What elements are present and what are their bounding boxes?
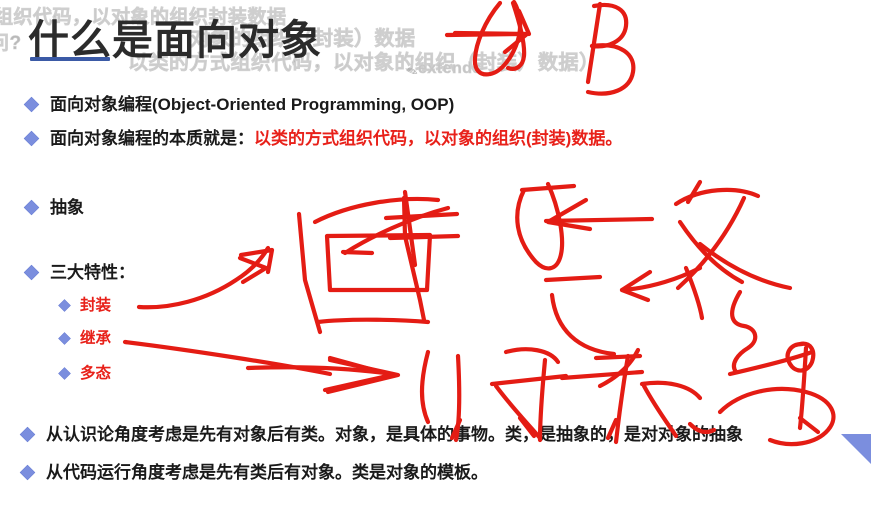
diamond-bullet-icon <box>58 332 71 345</box>
sub-bullet-label: 多态 <box>80 366 111 382</box>
ink-glyph-3-left <box>680 222 742 282</box>
bullet-item-4: 三大特性： <box>26 264 135 281</box>
ghost-text-line2: 问? <box>0 28 22 55</box>
ink-glyph-8-loop <box>788 344 814 371</box>
ink-glyph-2-hook <box>517 184 562 268</box>
sub-bullet-item-inheritance: 继承 <box>60 331 111 347</box>
diamond-bullet-icon <box>20 465 36 481</box>
pencil-icon: ✎ <box>405 63 421 82</box>
ink-glyph-2-dash <box>546 277 600 280</box>
ink-glyph-8-sweep <box>730 352 812 374</box>
ink-arrow-to-fengzhuang <box>139 248 268 307</box>
corner-triangle-decoration <box>841 434 871 464</box>
ink-glyph-1-inner-box <box>327 235 430 290</box>
ink-glyph-2-arrow <box>546 219 652 221</box>
ink-glyph-1-left <box>299 214 320 332</box>
diamond-bullet-icon <box>24 265 40 281</box>
ink-glyph-1-bottom <box>318 320 428 322</box>
ink-arrow-left-small <box>240 258 266 282</box>
ink-glyph-7-hline2 <box>562 372 642 378</box>
ink-glyph-1-stroke <box>345 208 448 253</box>
sub-bullet-label: 封装 <box>80 298 111 314</box>
bullet-label: 三大特性： <box>50 264 135 281</box>
ink-glyph-6-cross <box>492 376 566 384</box>
ink-letter-b-top <box>592 5 626 46</box>
bullet-label: 从认识论角度考虑是先有对象后有类。对象，是具体的事物。类，是抽象的，是对对象的抽… <box>46 426 743 443</box>
ink-arrow-to-jicheng <box>125 342 330 374</box>
bullet-item-runtime: 从代码运行角度考虑是先有类后有对象。类是对象的模板。 <box>22 464 488 481</box>
ink-glyph-7-left <box>600 350 638 386</box>
ink-glyph-1-right <box>404 198 424 320</box>
ink-glyph-6-top <box>506 349 558 362</box>
ink-glyph-2-curve <box>552 295 614 354</box>
ink-glyph-1-cross2 <box>390 236 458 238</box>
bullet-label: 从代码运行角度考虑是先有类后有对象。类是对象的模板。 <box>46 464 488 481</box>
ink-glyph-8-stem <box>800 348 806 428</box>
ink-glyph-3-sweep <box>700 244 790 288</box>
ink-glyph-7-box <box>642 383 700 398</box>
bullet-item-1: 面向对象编程(Object-Oriented Programming, OOP) <box>26 96 454 113</box>
bullet-item-2: 面向对象编程的本质就是： 以类的方式组织代码，以对象的组织(封装)数据。 <box>26 130 622 147</box>
ink-letter-b-bottom <box>588 45 633 93</box>
diamond-bullet-icon <box>24 131 40 147</box>
bullet-label-highlight: 以类的方式组织代码，以对象的组织(封装)数据。 <box>254 130 622 147</box>
ink-circle-fengzhuang <box>475 2 520 74</box>
bullet-label: 抽象 <box>50 199 84 216</box>
ghost-text-extends: extends <box>418 60 482 78</box>
ink-glyph-1-tick <box>343 252 372 253</box>
ink-glyph-2-top <box>522 186 574 190</box>
ink-glyph-3-dot <box>688 182 700 202</box>
bullet-label: 面向对象编程(Object-Oriented Programming, OOP) <box>50 96 454 113</box>
ink-arrow-to-fengzhuang-head <box>241 250 272 272</box>
ink-letter-b-stem <box>588 4 600 82</box>
diamond-bullet-icon <box>24 97 40 113</box>
ink-glyph-4-arrow <box>622 268 700 290</box>
ink-arrow-top-line <box>455 33 527 52</box>
ink-glyph-1-vert <box>405 192 415 265</box>
diamond-bullet-icon <box>20 427 36 443</box>
ink-glyph-4-head <box>622 272 650 300</box>
ink-glyph-8-top <box>732 292 755 372</box>
ink-glyph-5-left <box>422 352 428 422</box>
ink-glyph-1-cross1 <box>386 214 457 218</box>
ink-arrow-top-tail <box>519 11 529 34</box>
ink-glyph-4-stroke <box>686 268 702 318</box>
diamond-bullet-icon <box>58 299 71 312</box>
ink-arrow-to-jicheng-head <box>325 358 392 390</box>
ink-circle-fengzhuang-2 <box>508 3 524 69</box>
diamond-bullet-icon <box>24 200 40 216</box>
sub-bullet-item-polymorphism: 多态 <box>60 366 111 382</box>
ink-arrow-top <box>447 34 523 35</box>
slide-canvas: 组织代码，以对象的组织封装数据 问? 对象的组织（封装）数据 以类的方式组织代码… <box>0 0 871 506</box>
sub-bullet-item-encapsulation: 封装 <box>60 298 111 314</box>
sub-bullet-label: 继承 <box>80 331 111 347</box>
bullet-item-epistemology: 从认识论角度考虑是先有对象后有类。对象，是具体的事物。类，是抽象的，是对对象的抽… <box>22 426 743 443</box>
bullet-label: 面向对象编程的本质就是： <box>50 130 254 147</box>
ink-tick-5 <box>800 418 818 432</box>
diamond-bullet-icon <box>58 367 71 380</box>
title-underline <box>30 57 110 61</box>
bullet-item-3: 抽象 <box>26 199 84 216</box>
ink-bottom-arrowhead <box>328 360 398 392</box>
ink-bottom-arrow <box>248 367 392 374</box>
ink-glyph-3-right <box>678 198 744 288</box>
ink-glyph-3-top <box>676 190 758 204</box>
ink-glyph-7-hline1 <box>596 356 640 358</box>
ink-glyph-2-arrowhead <box>548 200 590 229</box>
ink-glyph-1-top <box>315 199 438 222</box>
